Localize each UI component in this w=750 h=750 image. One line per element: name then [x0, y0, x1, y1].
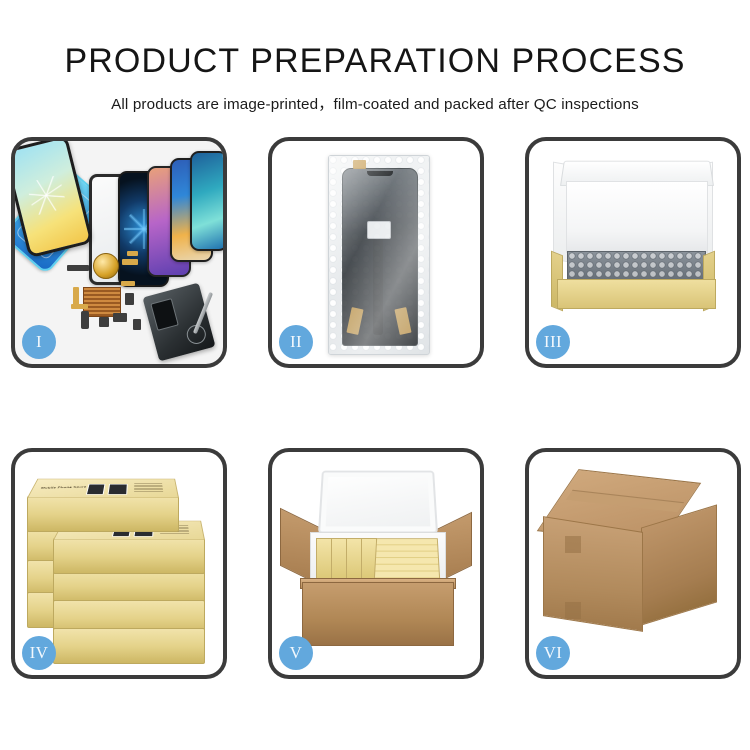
- screen-notch: [367, 171, 393, 176]
- step-badge-1: I: [22, 325, 56, 359]
- process-step-grid: I II: [11, 137, 739, 697]
- process-step-panel-3[interactable]: III: [525, 137, 741, 368]
- spare-parts-box-top: Mobile Phone Spare Parts: [27, 479, 179, 498]
- foam-lid: [318, 471, 438, 534]
- tape-strip: [353, 160, 366, 169]
- carton-body: [302, 582, 454, 646]
- part-flex-cable: [121, 281, 135, 286]
- box-stack: Mobile Phone Spare Parts Mobile Phone Sp…: [23, 468, 219, 664]
- step-badge-5: V: [279, 636, 313, 670]
- tape-tab: [565, 536, 581, 553]
- process-step-panel-5[interactable]: V: [268, 448, 484, 679]
- part-chip: [99, 317, 109, 327]
- part-chip: [81, 311, 89, 329]
- page-title: PRODUCT PREPARATION PROCESS: [0, 0, 750, 81]
- part-chip: [113, 313, 127, 322]
- part-chip: [125, 293, 134, 305]
- screen-connector: [367, 221, 391, 239]
- box-screen-graphic: [86, 484, 106, 495]
- box-front-panel: [557, 279, 716, 309]
- foam-sheet: [566, 181, 708, 253]
- screen-flex-cable: [373, 231, 383, 335]
- part-flex-cable: [71, 304, 88, 309]
- spare-parts-box: [53, 538, 205, 574]
- carton-front-face: [543, 516, 643, 632]
- process-step-panel-6[interactable]: VI: [525, 448, 741, 679]
- speaker-module: [93, 253, 119, 279]
- part-flex-cable: [122, 259, 138, 265]
- packed-yellow-box-group: [374, 538, 441, 581]
- box-checklist-lines: [134, 483, 163, 491]
- spare-parts-box: [27, 496, 179, 532]
- bubble-wrap-bag: [328, 155, 430, 355]
- step-badge-4: IV: [22, 636, 56, 670]
- step-badge-6: VI: [536, 636, 570, 670]
- part-chip: [133, 319, 141, 330]
- part-chip: [67, 265, 89, 271]
- part-flex-cable: [127, 251, 138, 256]
- page-subtitle: All products are image-printed，film-coat…: [0, 81, 750, 114]
- process-step-panel-1[interactable]: I: [11, 137, 227, 368]
- process-step-panel-4[interactable]: Mobile Phone Spare Parts Mobile Phone Sp…: [11, 448, 227, 679]
- spare-parts-box: [53, 628, 205, 664]
- process-step-panel-2[interactable]: II: [268, 137, 484, 368]
- packed-yellow-box: [331, 538, 347, 580]
- step-badge-3: III: [536, 325, 570, 359]
- packed-yellow-box: [316, 538, 332, 580]
- step-badge-2: II: [279, 325, 313, 359]
- infographic-header: PRODUCT PREPARATION PROCESS All products…: [0, 0, 750, 114]
- packed-yellow-box: [346, 538, 362, 580]
- phone-display-teal: [190, 151, 227, 251]
- tape-tab: [565, 602, 581, 619]
- phone-logic-board: [142, 283, 215, 362]
- box-screen-graphic: [107, 484, 127, 495]
